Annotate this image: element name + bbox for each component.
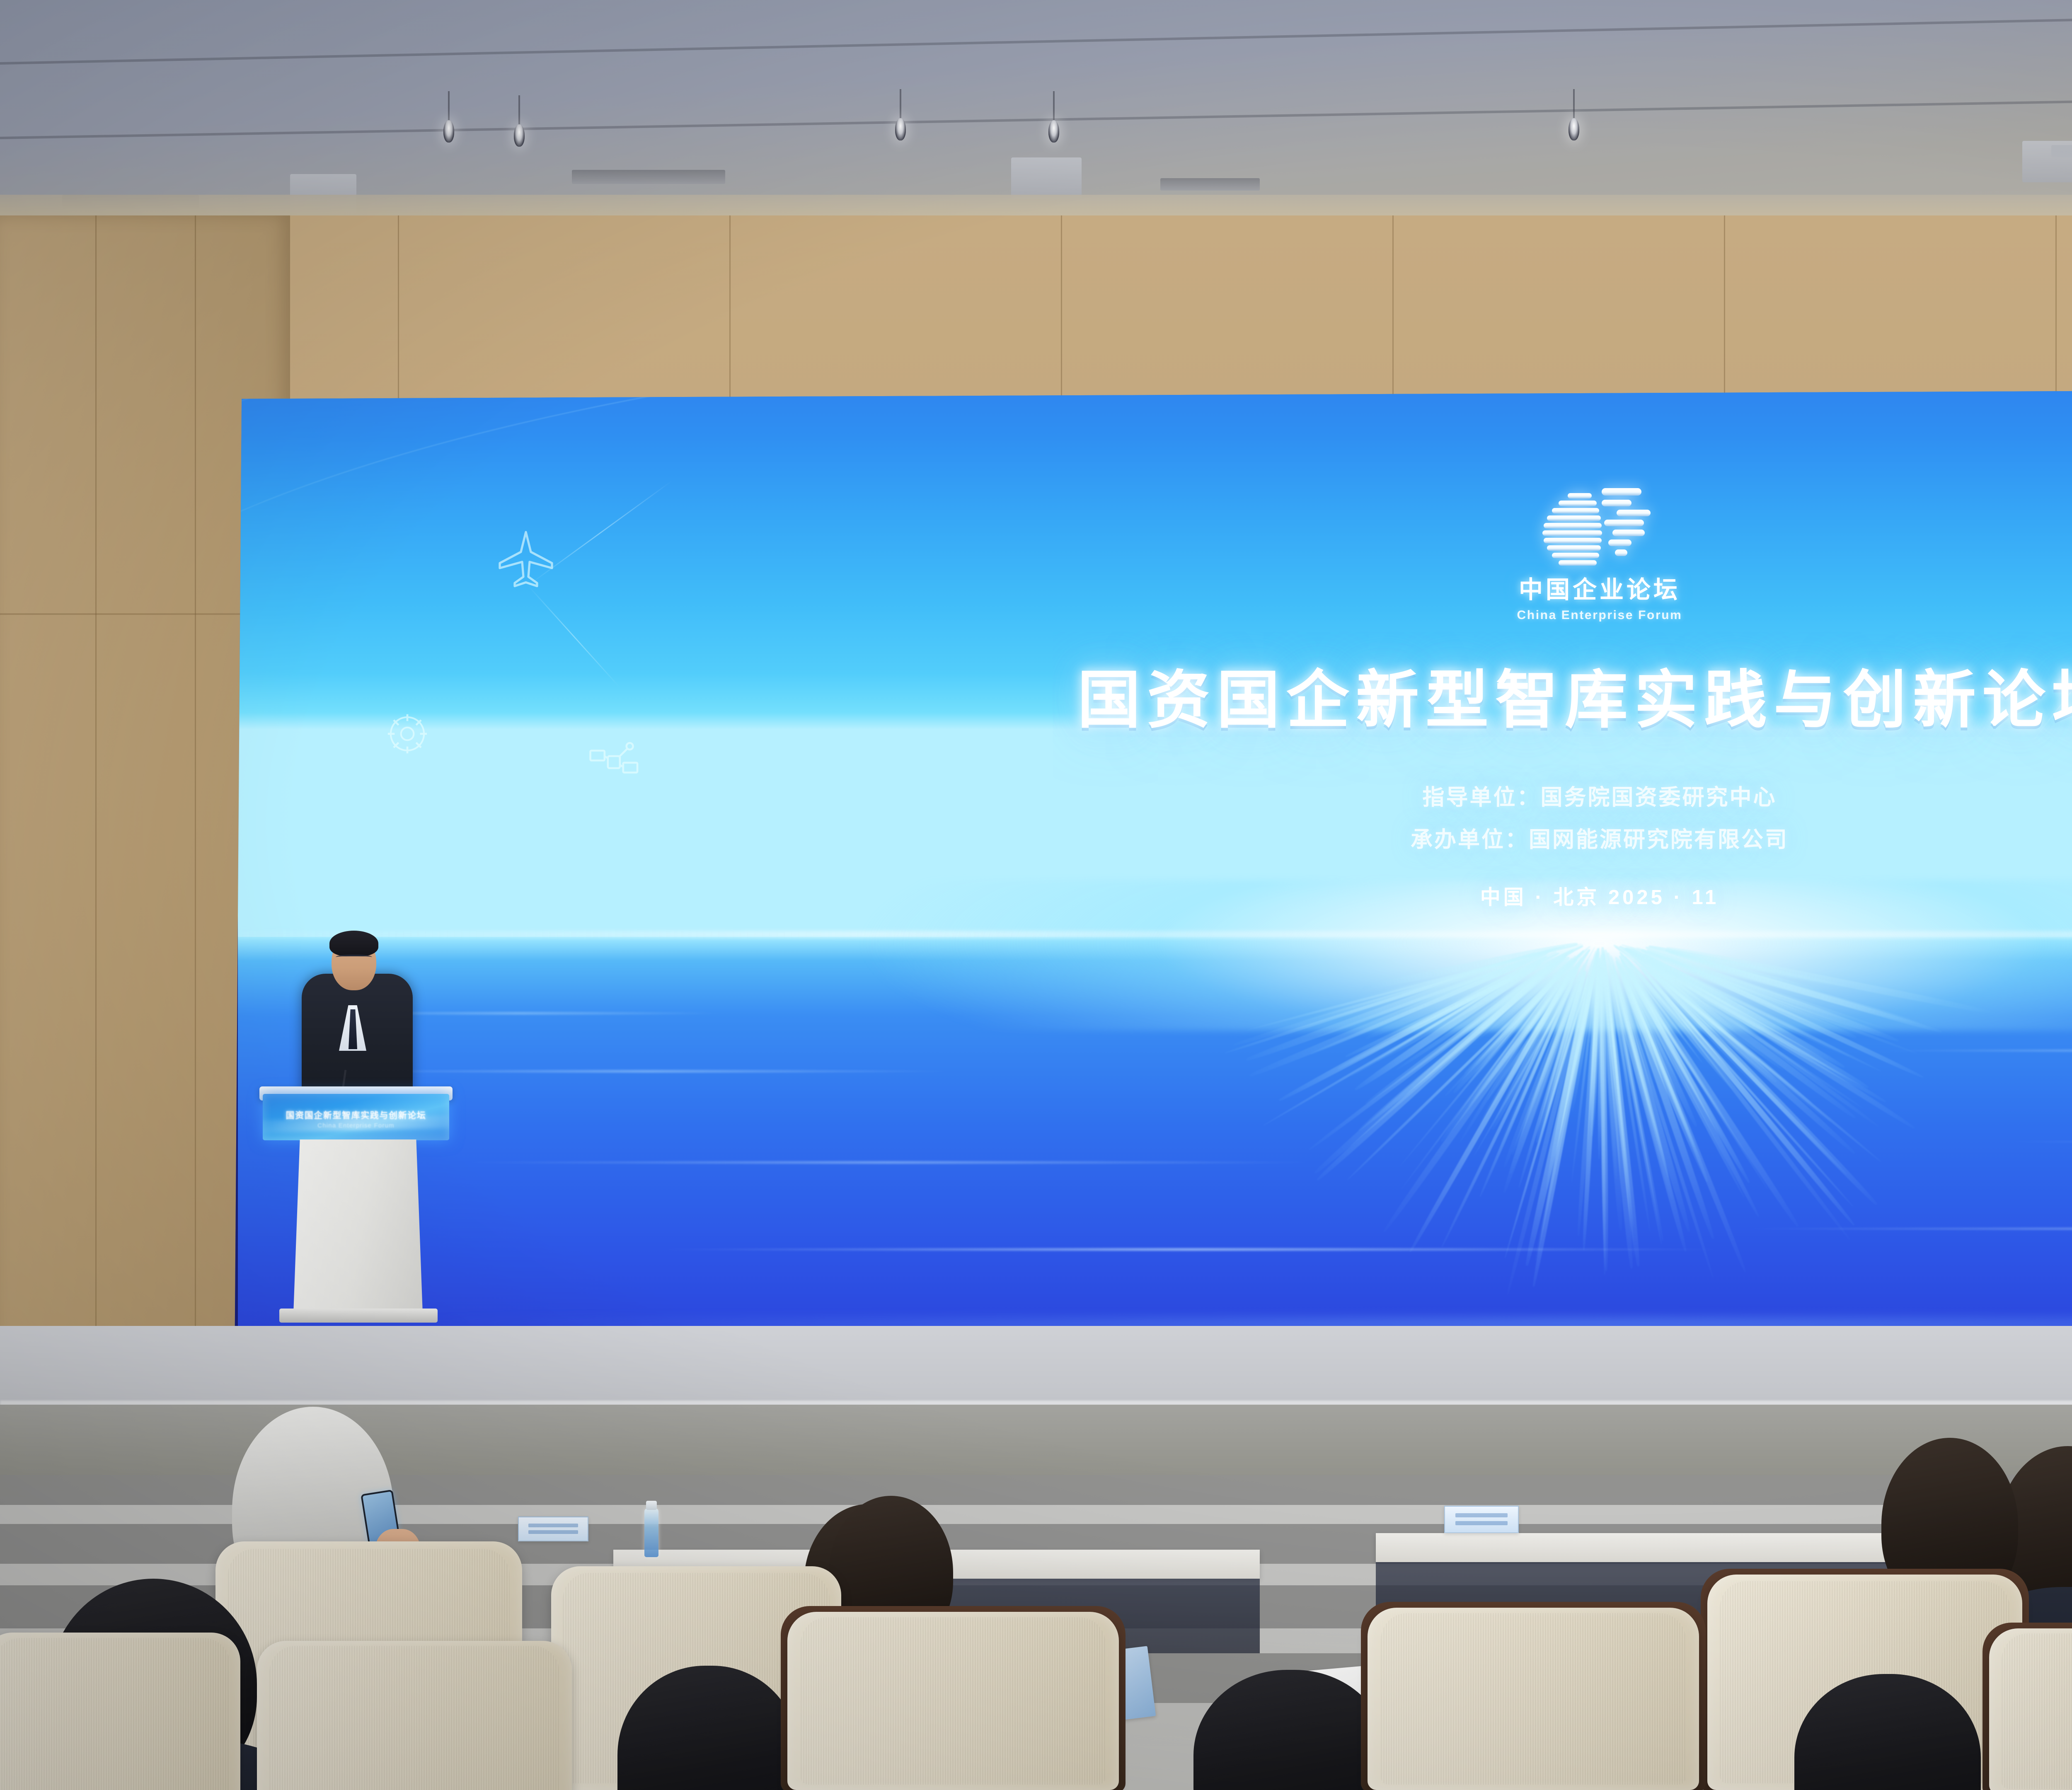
ceiling-spotlight-1 — [514, 124, 525, 147]
forum-organizers: 指导单位：国务院国资委研究中心 承办单位：国网能源研究院有限公司 — [1411, 780, 1789, 854]
forum-place-and-date: 中国 · 北京 2025 · 11 — [1480, 881, 1719, 910]
ceiling-panel-2 — [2022, 141, 2072, 182]
podium-panel-subtitle: China Enterprise Forum — [263, 1122, 449, 1129]
forum-main-title: 国资国企新型智库实践与创新论坛 — [1077, 649, 2072, 740]
forum-logo: 中国企业论坛 China Enterprise Forum — [1517, 486, 1682, 622]
podium-body — [293, 1139, 423, 1313]
spotlight-stem-2 — [900, 89, 901, 120]
spotlight-stem-0 — [448, 91, 450, 122]
ceiling-seam-0 — [0, 0, 2072, 65]
ceiling-vent-2 — [1160, 178, 1260, 191]
water-bottle-cap-1 — [646, 1501, 657, 1510]
logo-english-name: China Enterprise Forum — [1517, 608, 1682, 622]
audience-chair-front-3[interactable] — [1368, 1608, 1699, 1790]
name-card-0 — [1444, 1506, 1519, 1533]
podium-and-speaker: 国资国企新型智库实践与创新论坛 China Enterprise Forum — [257, 924, 456, 1363]
ceiling-panel-1 — [1011, 157, 1082, 199]
screen-content: 中国企业论坛 China Enterprise Forum 国资国企新型智库实践… — [238, 390, 2072, 1333]
spotlight-stem-3 — [1053, 91, 1055, 122]
conference-hall-photo: 中国企业论坛 China Enterprise Forum 国资国企新型智库实践… — [0, 0, 2072, 1790]
name-card-stripe-b-0 — [1455, 1521, 1508, 1525]
ceiling-spotlight-0 — [443, 120, 454, 143]
podium-led-panel: 国资国企新型智库实践与创新论坛 China Enterprise Forum — [263, 1094, 449, 1140]
left-wall-seam-1 — [195, 215, 196, 1367]
podium-base — [279, 1309, 438, 1323]
audience-chair-front-2[interactable] — [787, 1612, 1119, 1790]
speaker-glasses — [336, 955, 372, 961]
host-organization: 承办单位：国网能源研究院有限公司 — [1411, 822, 1789, 854]
logo-chinese-name: 中国企业论坛 — [1519, 570, 1680, 605]
led-stage-screen: 中国企业论坛 China Enterprise Forum 国资国企新型智库实践… — [232, 387, 2072, 1336]
ceiling-spotlight-2 — [895, 118, 906, 140]
ceiling-spotlight-3 — [1048, 120, 1059, 143]
spotlight-stem-4 — [1573, 89, 1575, 120]
left-wall-seam-0 — [95, 215, 97, 1367]
podium-panel-title: 国资国企新型智库实践与创新论坛 — [263, 1109, 449, 1121]
china-enterprise-forum-globe-mark — [1523, 486, 1676, 573]
audience-chair-front-1[interactable] — [257, 1641, 572, 1790]
guiding-organization: 指导单位：国务院国资委研究中心 — [1423, 780, 1777, 811]
audience-chair-front-0[interactable] — [0, 1633, 240, 1790]
audience-chair-front-4[interactable] — [1989, 1628, 2072, 1790]
ceiling-vent-1 — [572, 170, 725, 184]
name-card-1 — [518, 1517, 588, 1541]
name-card-stripe-1 — [528, 1524, 578, 1527]
ceiling-seam-1 — [0, 81, 2072, 139]
name-card-stripe-0 — [1455, 1513, 1508, 1517]
water-bottle-1 — [644, 1508, 658, 1557]
spotlight-stem-1 — [518, 95, 520, 126]
ceiling-spotlight-4 — [1569, 118, 1579, 140]
speaker-hair — [329, 931, 378, 956]
name-card-stripe-b-1 — [528, 1530, 578, 1534]
